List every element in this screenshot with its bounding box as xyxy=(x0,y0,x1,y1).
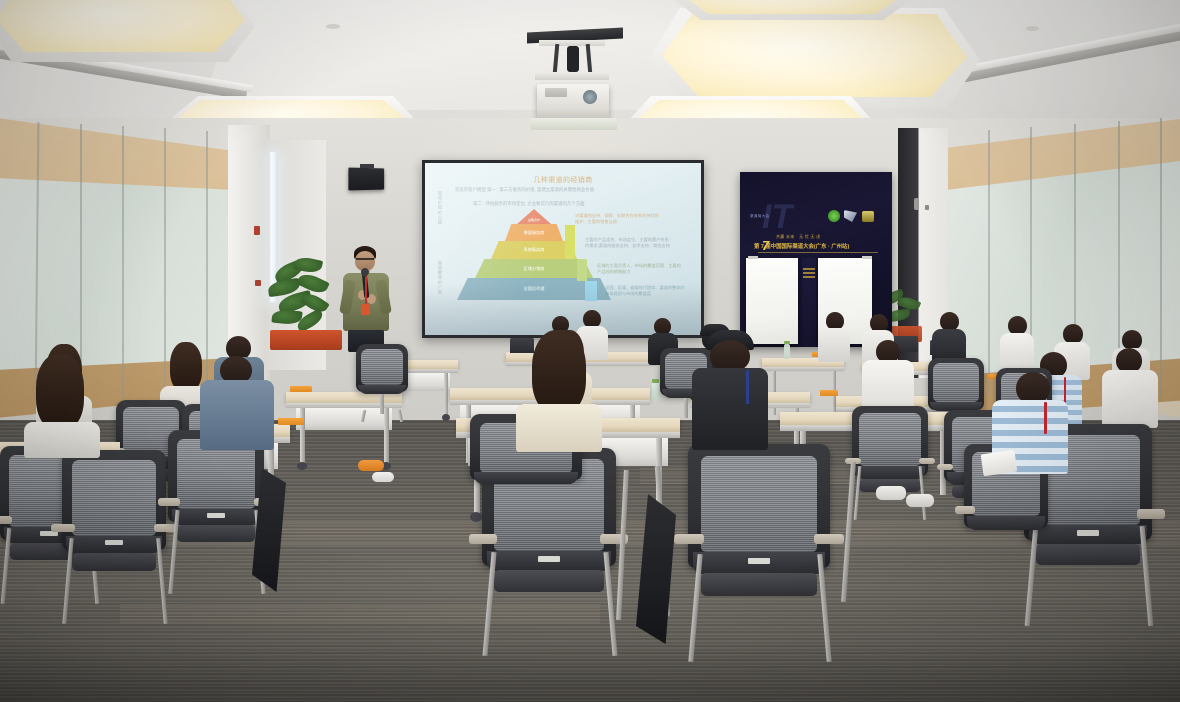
projector-arm xyxy=(586,44,593,74)
wall-speaker xyxy=(348,168,384,191)
classroom-scene: 几种渠道的经销商 完美的客户模型 第一 : 第三方服务的价值, 是建立渠道的关键… xyxy=(0,0,1180,702)
partner-logo-icon xyxy=(844,210,857,222)
notepad xyxy=(278,418,304,425)
water-bottle xyxy=(652,382,659,400)
flipchart-clip-icon xyxy=(862,256,872,259)
ceiling-plane-center xyxy=(200,0,720,110)
attendee xyxy=(692,332,768,448)
shoe xyxy=(358,460,384,471)
potted-plant xyxy=(268,258,344,350)
partition-mullion xyxy=(1160,118,1162,398)
banner-gold-underline xyxy=(758,252,878,253)
attendee xyxy=(862,340,914,412)
attendee-torso xyxy=(516,404,602,452)
plant-pot xyxy=(270,330,342,350)
projector-bracket xyxy=(535,72,609,80)
chair xyxy=(168,430,264,598)
ceiling-light-panel-1 xyxy=(0,0,245,52)
presenter xyxy=(336,246,396,351)
attendee-torso xyxy=(1102,370,1158,428)
attendee-hair xyxy=(170,342,202,392)
lanyard xyxy=(746,370,749,404)
shoe xyxy=(876,486,906,500)
attendee-torso xyxy=(692,368,768,450)
banner-side-label: 渠道商大会 xyxy=(750,214,769,219)
projection-screen: 几种渠道的经销商 完美的客户模型 第一 : 第三方服务的价值, 是建立渠道的关键… xyxy=(422,160,704,338)
shoe xyxy=(906,494,934,507)
chair xyxy=(356,344,408,422)
projector-arm xyxy=(553,44,560,74)
glasses-icon xyxy=(356,258,374,260)
partition-mullion xyxy=(988,130,990,394)
attendee xyxy=(516,330,602,448)
door-lock-icon xyxy=(925,205,929,210)
attendee-torso xyxy=(818,328,850,362)
bottle-cap-icon xyxy=(652,379,659,383)
ceiling-projector xyxy=(525,28,625,138)
emergency-light-icon xyxy=(254,226,260,235)
notebook xyxy=(981,450,1018,477)
banner-strip-text xyxy=(803,268,815,280)
partner-logo-icon xyxy=(828,210,840,222)
attendee xyxy=(200,356,274,448)
door-handle-icon[interactable] xyxy=(914,198,919,210)
ceiling-light-panel-2 xyxy=(662,14,967,97)
attendee-head xyxy=(1063,324,1083,344)
microphone-head-icon xyxy=(361,268,369,276)
desk-leg xyxy=(300,408,305,464)
chair xyxy=(62,450,166,626)
desk-caster xyxy=(297,462,307,470)
slide-content: 几种渠道的经销商 完美的客户模型 第一 : 第三方服务的价值, 是建立渠道的关键… xyxy=(425,163,701,335)
lanyard xyxy=(365,276,367,304)
attendee xyxy=(932,312,966,364)
notepad xyxy=(290,386,312,392)
projector-lens-icon xyxy=(583,90,597,104)
attendee-torso xyxy=(200,380,274,450)
ceiling-light-panel-3 xyxy=(682,0,902,14)
chair xyxy=(688,444,830,664)
attendee xyxy=(1102,348,1158,428)
badge xyxy=(361,304,370,315)
projector-base-shelf xyxy=(531,118,617,130)
desk-caster xyxy=(442,414,450,421)
attendee-hair xyxy=(36,354,84,430)
wall-switch-icon xyxy=(255,280,261,286)
bottle-cap-icon xyxy=(784,341,790,344)
projector-vent-icon xyxy=(545,88,567,97)
flipchart-clip-icon xyxy=(748,256,758,259)
desk-leg xyxy=(444,373,448,415)
smoke-detector-icon xyxy=(1026,26,1039,31)
attendee xyxy=(24,354,100,454)
water-bottle xyxy=(784,344,790,359)
banner-headline-main: 第 7 届中国国际渠道大会(广东 · 广州站) xyxy=(754,242,849,250)
lanyard xyxy=(1044,402,1047,434)
attendee xyxy=(818,312,850,362)
partner-logo-icon xyxy=(862,211,874,222)
projector-cable xyxy=(567,46,579,72)
partition-mullion xyxy=(122,126,124,398)
attendee-torso xyxy=(24,422,100,458)
smoke-detector-icon xyxy=(326,24,340,29)
speaker-bracket-icon xyxy=(360,164,374,168)
shoe xyxy=(372,472,394,482)
attendee-head xyxy=(1122,330,1142,350)
attendee-hair xyxy=(532,330,586,414)
banner-headline-small: 共赢 未来 · 无 忧 无 虑 xyxy=(776,234,821,240)
